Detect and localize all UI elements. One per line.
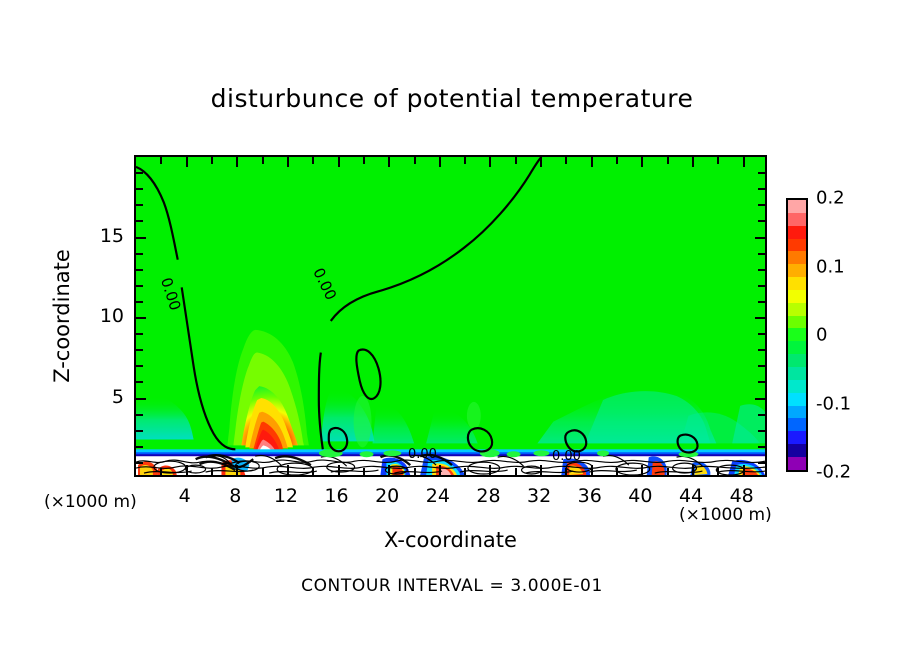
x-tick [667, 468, 669, 475]
x-tick [743, 157, 745, 167]
x-tick [160, 468, 162, 475]
figure-root: disturbunce of potential temperature [0, 0, 904, 654]
contour-plot-area[interactable]: 0.00 0.00 0.00 0.00 [134, 155, 767, 477]
y-tick [136, 462, 143, 464]
y-tick [136, 269, 143, 271]
y-tick-label: 5 [92, 386, 124, 408]
x-tick [312, 468, 314, 475]
x-tick [616, 157, 618, 164]
x-tick [464, 157, 466, 164]
y-tick [136, 365, 143, 367]
x-tick [363, 157, 365, 164]
y-tick [758, 349, 765, 351]
x-tick [287, 465, 289, 475]
y-tick [136, 398, 146, 400]
x-tick-label: 28 [476, 485, 500, 507]
contour-field [136, 157, 765, 475]
x-tick [338, 157, 340, 167]
colorbar-tick-label: -0.1 [816, 393, 851, 414]
x-tick [591, 157, 593, 167]
x-axis-title: X-coordinate [134, 528, 767, 552]
contour-label-zero-bl-b: 0.00 [552, 449, 581, 464]
x-tick-label: 36 [578, 485, 602, 507]
x-tick [667, 157, 669, 164]
y-tick [136, 430, 143, 432]
x-tick [236, 157, 238, 167]
x-tick-label: 20 [375, 485, 399, 507]
y-tick [758, 333, 765, 335]
colorbar-band [788, 444, 806, 457]
x-tick [338, 465, 340, 475]
y-tick [758, 430, 765, 432]
y-tick [758, 446, 765, 448]
y-tick [136, 381, 143, 383]
x-tick-label: 4 [179, 485, 191, 507]
y-tick [136, 349, 143, 351]
y-tick [758, 204, 765, 206]
colorbar-band [788, 316, 806, 329]
y-tick [136, 317, 146, 319]
x-tick [388, 157, 390, 167]
y-axis-unit-label: (×1000 m) [44, 492, 137, 512]
x-tick [186, 465, 188, 475]
y-tick [755, 237, 765, 239]
colorbar-tick-label: 0.2 [816, 188, 845, 209]
colorbar-band [788, 277, 806, 290]
x-tick [414, 468, 416, 475]
y-tick [758, 188, 765, 190]
colorbar-tick-label: -0.2 [816, 462, 851, 483]
colorbar-band [788, 328, 806, 341]
x-tick [186, 157, 188, 167]
colorbar[interactable] [786, 198, 808, 472]
x-tick [489, 157, 491, 167]
x-tick [262, 157, 264, 164]
colorbar-band [788, 393, 806, 406]
x-tick [439, 465, 441, 475]
y-tick [758, 220, 765, 222]
x-tick [464, 468, 466, 475]
y-tick [758, 285, 765, 287]
colorbar-band [788, 341, 806, 354]
x-tick [236, 465, 238, 475]
x-tick [540, 157, 542, 167]
x-tick [287, 157, 289, 167]
y-tick [758, 365, 765, 367]
x-tick [692, 465, 694, 475]
x-tick-label: 12 [274, 485, 298, 507]
y-tick [758, 462, 765, 464]
x-tick [489, 465, 491, 475]
x-tick [262, 468, 264, 475]
x-tick-label: 40 [628, 485, 652, 507]
x-tick [591, 465, 593, 475]
y-tick [136, 446, 143, 448]
y-tick [136, 414, 143, 416]
colorbar-tick-label: 0 [816, 325, 827, 346]
y-tick [755, 317, 765, 319]
x-tick-label: 44 [679, 485, 703, 507]
colorbar-band [788, 418, 806, 431]
x-tick [565, 468, 567, 475]
colorbar-band [788, 264, 806, 277]
y-tick [758, 253, 765, 255]
y-tick [755, 398, 765, 400]
y-tick [136, 301, 143, 303]
y-tick [758, 381, 765, 383]
colorbar-band [788, 367, 806, 380]
y-tick [758, 172, 765, 174]
colorbar-band [788, 303, 806, 316]
x-tick [717, 157, 719, 164]
x-tick [515, 468, 517, 475]
colorbar-band [788, 354, 806, 367]
x-tick-label: 32 [527, 485, 551, 507]
x-tick [616, 468, 618, 475]
colorbar-band [788, 251, 806, 264]
y-tick-label: 10 [92, 305, 124, 327]
x-tick [312, 157, 314, 164]
colorbar-band [788, 226, 806, 239]
x-tick [211, 468, 213, 475]
colorbar-tick-label: 0.1 [816, 256, 845, 277]
colorbar-band [788, 457, 806, 470]
y-tick [136, 220, 143, 222]
y-tick [758, 269, 765, 271]
colorbar-band [788, 406, 806, 419]
contour-label-zero-bl-a: 0.00 [408, 447, 437, 462]
x-tick [388, 465, 390, 475]
y-tick [136, 285, 143, 287]
x-tick [363, 468, 365, 475]
x-tick [717, 468, 719, 475]
x-tick [211, 157, 213, 164]
y-tick [136, 237, 146, 239]
x-tick-label: 16 [324, 485, 348, 507]
colorbar-band [788, 380, 806, 393]
x-axis-unit-label: (×1000 m) [679, 505, 772, 525]
x-tick [515, 157, 517, 164]
y-tick [136, 253, 143, 255]
y-tick-label: 15 [92, 225, 124, 247]
x-tick [641, 465, 643, 475]
colorbar-band [788, 200, 806, 213]
y-tick [136, 333, 143, 335]
y-tick [136, 172, 143, 174]
y-axis-title: Z-coordinate [50, 249, 74, 383]
x-tick [692, 157, 694, 167]
x-tick [439, 157, 441, 167]
x-tick-label: 24 [426, 485, 450, 507]
x-tick [414, 157, 416, 164]
y-tick [136, 188, 143, 190]
x-tick [540, 465, 542, 475]
x-tick [641, 157, 643, 167]
x-tick [160, 157, 162, 164]
contour-interval-caption: CONTOUR INTERVAL = 3.000E-01 [0, 576, 904, 596]
x-tick-label: 8 [229, 485, 241, 507]
y-tick [758, 301, 765, 303]
y-tick [136, 204, 143, 206]
page-title: disturbunce of potential temperature [0, 84, 904, 113]
colorbar-band [788, 239, 806, 252]
colorbar-band [788, 431, 806, 444]
x-tick [565, 157, 567, 164]
x-tick [743, 465, 745, 475]
x-tick-label: 48 [730, 485, 754, 507]
colorbar-band [788, 290, 806, 303]
y-tick [758, 414, 765, 416]
colorbar-band [788, 213, 806, 226]
